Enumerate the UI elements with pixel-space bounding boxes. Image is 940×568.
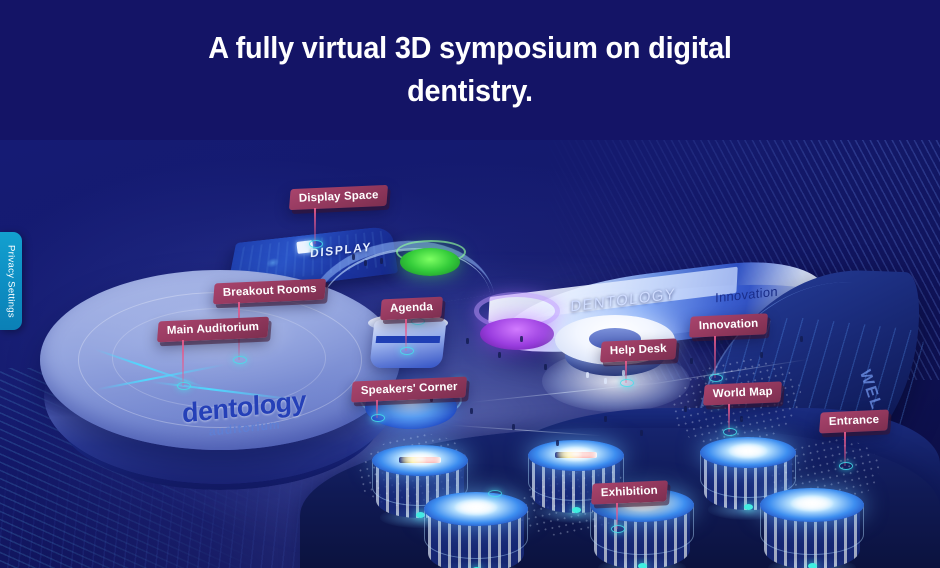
label-plate[interactable]: Agenda	[380, 297, 443, 321]
map-label-text: World Map	[713, 386, 773, 401]
map-label-display-space[interactable]: Display Space	[290, 187, 387, 208]
page-title: A fully virtual 3D symposium on digital …	[191, 27, 749, 113]
map-label-entrance[interactable]: Entrance	[820, 411, 888, 432]
avatar-figure	[380, 258, 383, 264]
label-plate[interactable]: Speakers' Corner	[351, 377, 468, 403]
avatar-figure	[544, 364, 547, 370]
avatar-figure	[498, 352, 501, 358]
map-label-speakers-corner[interactable]: Speakers' Corner	[352, 379, 466, 400]
avatar-figure	[720, 338, 723, 344]
label-stem	[844, 432, 846, 466]
privacy-settings-label: Privacy Settings	[6, 245, 17, 318]
label-plate[interactable]: Help Desk	[600, 338, 677, 362]
avatar-figure	[556, 440, 559, 446]
label-stem	[376, 400, 378, 418]
label-plate[interactable]: Innovation	[689, 313, 768, 337]
pod-marker	[638, 563, 647, 568]
label-stem	[625, 361, 627, 383]
map-label-text: Display Space	[299, 189, 379, 204]
avatar-figure	[364, 260, 367, 266]
pod-light	[729, 444, 767, 458]
label-stem	[182, 340, 184, 386]
map-label-exhibition[interactable]: Exhibition	[592, 482, 667, 503]
floor-marker	[411, 318, 425, 325]
pod-light	[557, 447, 595, 461]
label-plate[interactable]: Display Space	[289, 185, 388, 210]
avatar-figure	[640, 430, 643, 436]
page-header: A fully virtual 3D symposium on digital …	[0, 0, 940, 140]
map-label-text: Main Auditorium	[167, 321, 260, 337]
agenda-booth-band	[376, 336, 441, 343]
label-plate[interactable]: Exhibition	[591, 480, 668, 504]
map-label-breakout-rooms[interactable]: Breakout Rooms	[214, 281, 325, 302]
avatar-figure	[512, 424, 515, 430]
avatar-figure	[466, 338, 469, 344]
map-label-text: Entrance	[829, 414, 880, 428]
avatar-figure	[604, 378, 607, 384]
map-label-text: Help Desk	[610, 343, 667, 357]
label-stem	[405, 319, 407, 351]
map-label-text: Agenda	[390, 301, 434, 315]
map-label-text: Speakers' Corner	[361, 381, 458, 397]
avatar-figure	[684, 406, 687, 412]
pod-light	[401, 452, 439, 466]
map-label-world-map[interactable]: World Map	[704, 383, 781, 404]
label-stem	[616, 503, 618, 529]
avatar-figure	[760, 352, 763, 358]
label-plate[interactable]: Main Auditorium	[157, 317, 269, 343]
label-stem	[314, 208, 316, 244]
label-plate[interactable]: World Map	[703, 381, 782, 405]
map-label-main-auditorium[interactable]: Main Auditorium	[158, 319, 268, 340]
green-booth[interactable]	[400, 248, 460, 276]
avatar-figure	[604, 416, 607, 422]
label-plate[interactable]: Breakout Rooms	[213, 279, 327, 305]
avatar-figure	[800, 336, 803, 342]
exhibition-pod[interactable]	[760, 488, 864, 568]
virtual-venue-map[interactable]: DISPLAY dentology auditorium DENTOLOGY I…	[0, 140, 940, 568]
map-label-text: Breakout Rooms	[223, 283, 317, 299]
map-label-innovation[interactable]: Innovation	[690, 315, 767, 336]
label-stem	[728, 404, 730, 432]
floor-marker	[488, 490, 502, 497]
avatar-figure	[520, 336, 523, 342]
map-label-text: Innovation	[699, 318, 759, 333]
pod-light	[791, 496, 833, 511]
avatar-figure	[740, 416, 743, 422]
privacy-settings-tab[interactable]: Privacy Settings	[0, 232, 22, 330]
avatar-figure	[470, 408, 473, 414]
label-plate[interactable]: Entrance	[819, 410, 889, 434]
exhibition-pod[interactable]	[424, 492, 528, 568]
map-label-agenda[interactable]: Agenda	[381, 298, 442, 319]
avatar-figure	[690, 358, 693, 364]
page-root: A fully virtual 3D symposium on digital …	[0, 0, 940, 568]
agenda-booth[interactable]	[369, 320, 446, 368]
purple-stage[interactable]	[480, 318, 554, 350]
avatar-figure	[352, 254, 355, 260]
pod-marker	[808, 563, 817, 568]
avatar-figure	[586, 372, 589, 378]
map-label-help-desk[interactable]: Help Desk	[601, 340, 676, 361]
label-stem	[714, 336, 716, 378]
map-label-text: Exhibition	[601, 485, 658, 499]
pod-light	[455, 500, 497, 515]
